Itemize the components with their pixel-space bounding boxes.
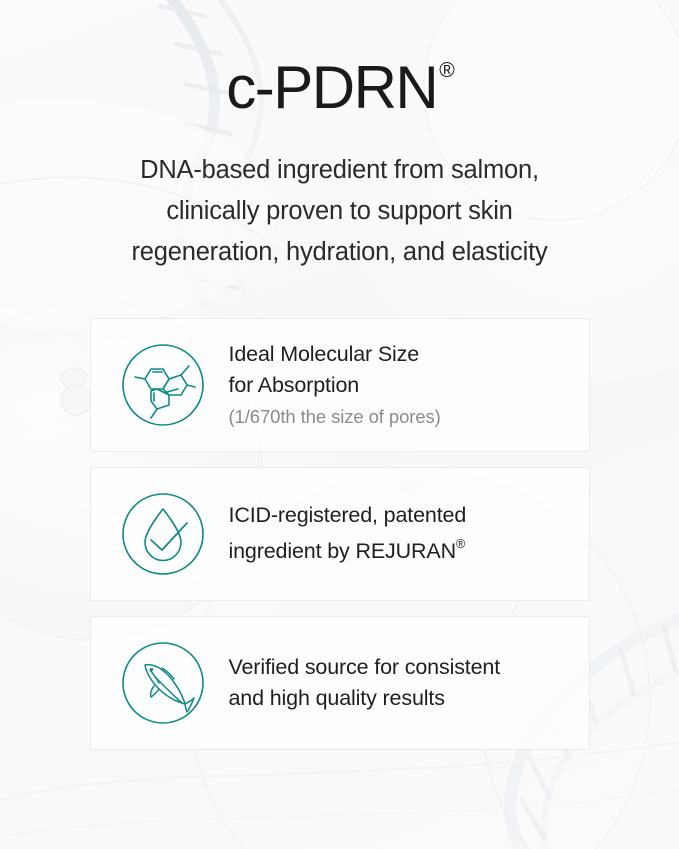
header: c-PDRN® DNA-based ingredient from salmon… [0, 0, 679, 273]
subtitle-line-1: DNA-based ingredient from salmon, [70, 150, 610, 191]
feature-card-text: Ideal Molecular Size for Absorption (1/6… [229, 339, 571, 431]
page-title: c-PDRN® [226, 58, 452, 118]
feature-card-verified-source: Verified source for consistent and high … [90, 616, 590, 750]
feature-card-text: ICID-registered, patented ingredient by … [229, 500, 571, 567]
product-infographic-page: c-PDRN® DNA-based ingredient from salmon… [0, 0, 679, 849]
page-subtitle: DNA-based ingredient from salmon, clinic… [70, 150, 610, 273]
heading-line-2: for Absorption [229, 370, 567, 401]
heading-line-1: Ideal Molecular Size [229, 339, 567, 370]
subtitle-line-3: regeneration, hydration, and elasticity [70, 232, 610, 273]
feature-card-molecular-size: Ideal Molecular Size for Absorption (1/6… [90, 318, 590, 452]
feature-card-heading: ICID-registered, patented ingredient by … [229, 500, 567, 567]
feature-card-subtext: (1/670th the size of pores) [229, 403, 567, 431]
feature-card-heading: Verified source for consistent and high … [229, 652, 567, 714]
heading-line-2: ingredient by REJURAN® [229, 531, 567, 567]
page-title-text: c-PDRN [226, 54, 437, 121]
heading-line-2-text: ingredient by REJURAN [229, 540, 456, 564]
registered-trademark-icon: ® [456, 537, 465, 551]
subtitle-line-2: clinically proven to support skin [70, 191, 610, 232]
registered-trademark-icon: ® [439, 59, 454, 82]
feature-card-list: Ideal Molecular Size for Absorption (1/6… [90, 318, 590, 750]
water-drop-check-icon [119, 490, 207, 578]
feature-card-heading: Ideal Molecular Size for Absorption [229, 339, 567, 401]
feature-card-text: Verified source for consistent and high … [229, 652, 571, 714]
molecule-icon [119, 341, 207, 429]
fish-icon [119, 639, 207, 727]
heading-line-1: Verified source for consistent [229, 652, 567, 683]
heading-line-1: ICID-registered, patented [229, 500, 567, 531]
heading-line-2: and high quality results [229, 683, 567, 714]
feature-card-icid-registered: ICID-registered, patented ingredient by … [90, 467, 590, 601]
